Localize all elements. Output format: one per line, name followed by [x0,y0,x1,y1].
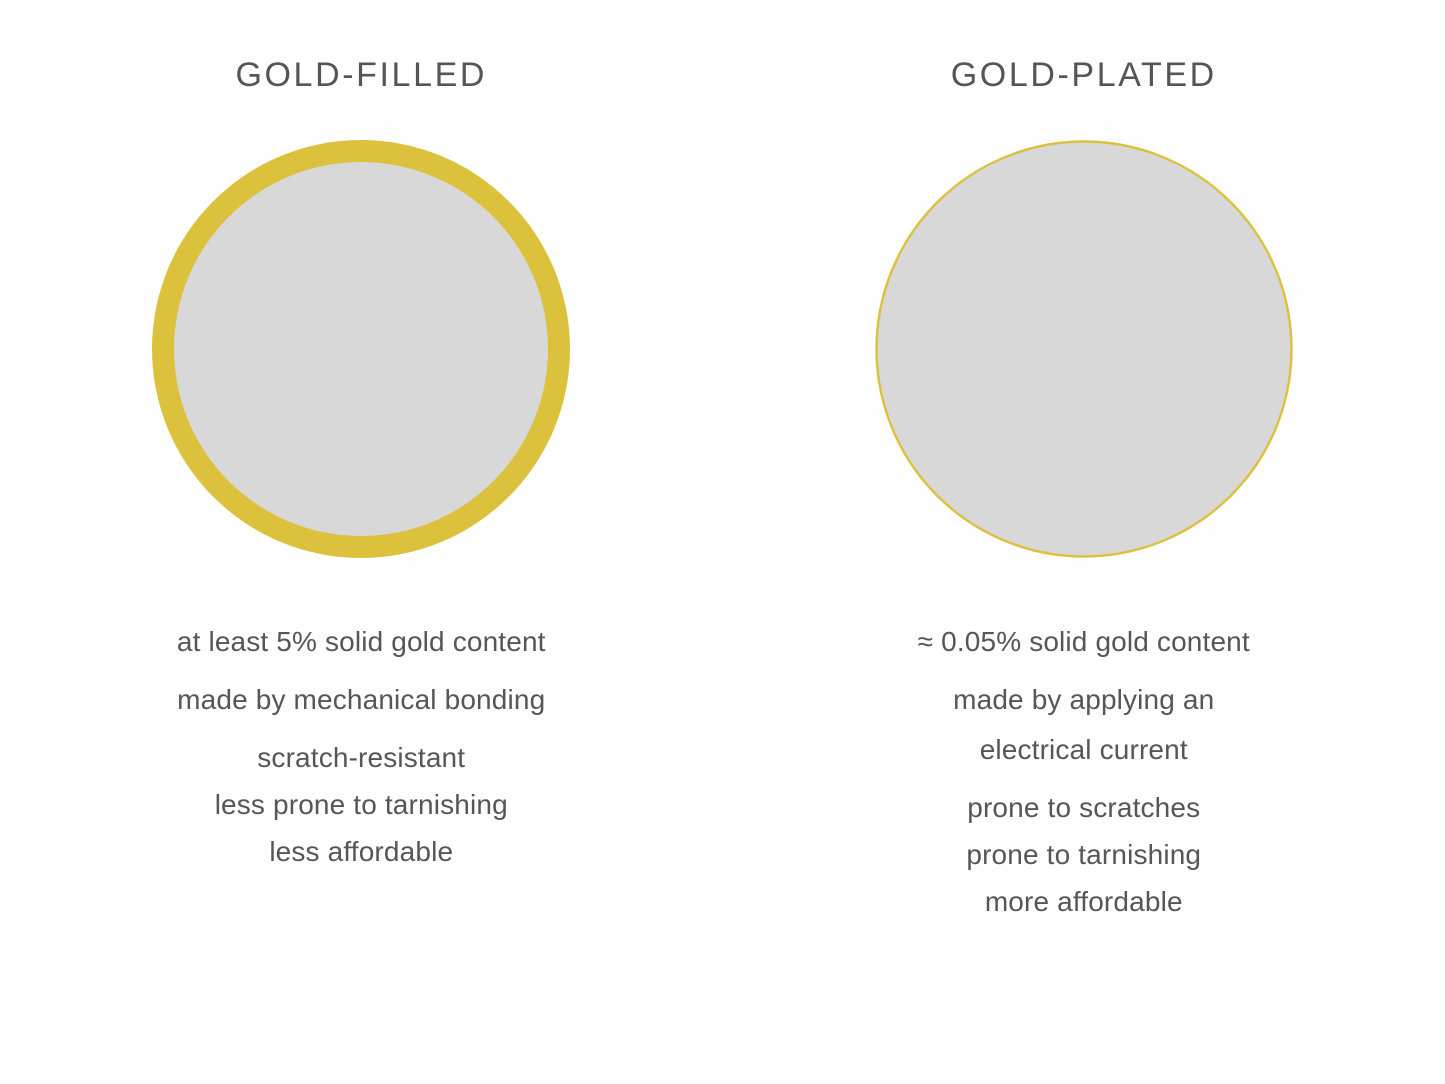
attribute-item: ≈ 0.05% solid gold content [723,628,1445,656]
thick-gold-ring-disc-icon [151,139,571,559]
attribute-item: less affordable [0,838,723,866]
attribute-item: at least 5% solid gold content [0,628,723,656]
column-gold-plated: GOLD-PLATED ≈ 0.05% solid gold content m… [723,0,1445,1084]
column-gold-filled: GOLD-FILLED at least 5% solid gold conte… [0,0,723,1084]
attribute-item: prone to tarnishing [723,841,1445,869]
column-title-gold-plated: GOLD-PLATED [951,58,1217,92]
comparison-infographic: GOLD-FILLED at least 5% solid gold conte… [0,0,1445,1084]
attribute-item: made by mechanical bonding [175,675,547,725]
attribute-list-gold-plated: ≈ 0.05% solid gold content made by apply… [723,628,1445,916]
disc-wrap-gold-plated [874,139,1294,559]
attribute-item: less prone to tarnishing [0,791,723,819]
attribute-item: made by applying an electrical current [898,675,1270,775]
thin-gold-ring-disc-icon [874,139,1294,559]
attribute-item: more affordable [723,888,1445,916]
disc-wrap-gold-filled [151,139,571,559]
column-title-gold-filled: GOLD-FILLED [235,58,487,92]
attribute-item: scratch-resistant [0,744,723,772]
attribute-list-gold-filled: at least 5% solid gold content made by m… [0,628,723,866]
attribute-item: prone to scratches [723,794,1445,822]
